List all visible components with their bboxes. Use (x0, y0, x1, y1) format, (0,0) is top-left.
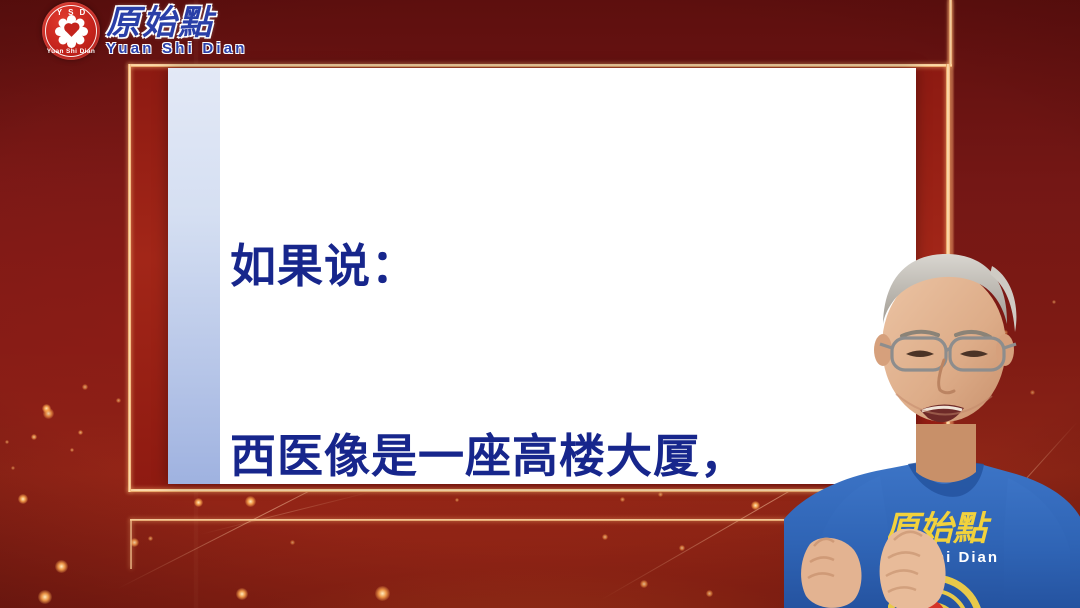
brand-wordmark-cn: 原始點 (106, 6, 248, 40)
slide-accent-strip (168, 68, 220, 484)
brand-logo: YSD Yuan Shi Dian 原始點 Yuan Shi Dian (42, 2, 248, 60)
presenter-illustration: 原始點 Yuan Shi Dian (784, 228, 1080, 608)
video-frame: 如果说： 西医像是一座高楼大厦， 中医是一片古老森林； YSD Yuan Shi… (0, 0, 1080, 608)
slide-frame-top (128, 64, 952, 67)
decorative-rule-vertical (130, 519, 132, 569)
presenter-ear (874, 334, 892, 366)
brand-wordmark: 原始點 Yuan Shi Dian (106, 6, 248, 56)
backdrop-accent-line (949, 0, 952, 64)
presenter-figure: 原始點 Yuan Shi Dian (784, 228, 1080, 608)
seal-arc-text: Yuan Shi Dian (42, 48, 100, 55)
brand-wordmark-en: Yuan Shi Dian (106, 41, 248, 56)
seal-icon: YSD Yuan Shi Dian (42, 2, 100, 60)
presenter-neck (916, 424, 976, 483)
slide-frame-left (128, 64, 131, 492)
